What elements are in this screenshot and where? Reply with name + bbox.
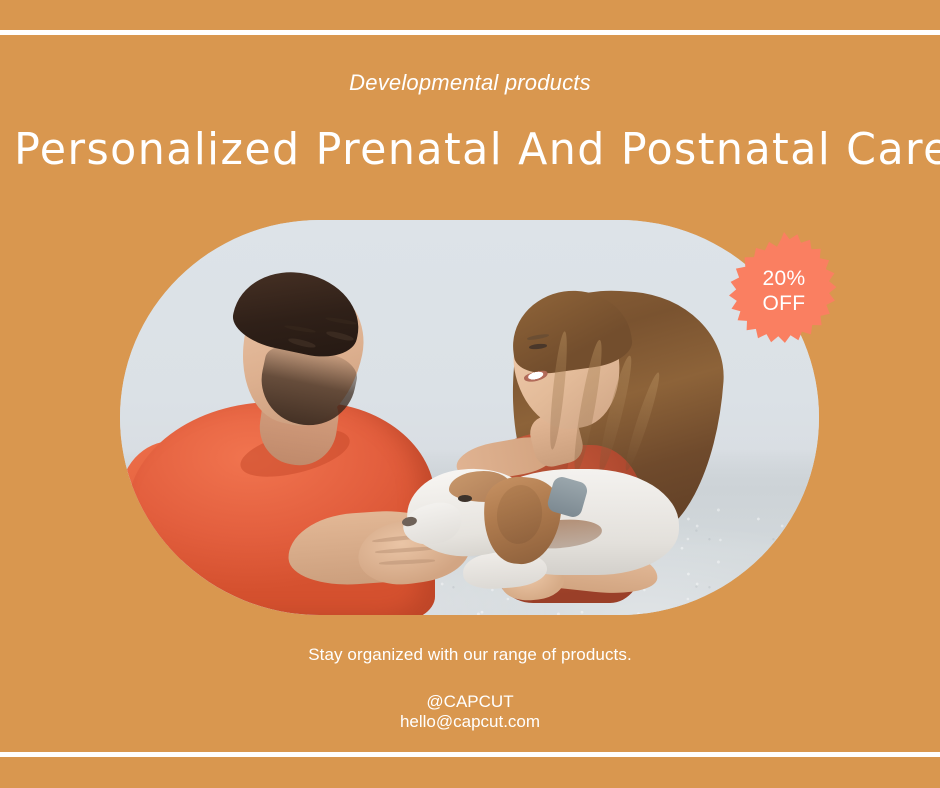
tagline-text: Stay organized with our range of product… — [0, 643, 940, 667]
discount-percent: 20% — [763, 266, 806, 291]
social-handle[interactable]: @CAPCUT — [0, 692, 940, 712]
discount-label: OFF — [763, 291, 806, 316]
eyebrow-text: Developmental products — [0, 68, 940, 98]
contact-email[interactable]: hello@capcut.com — [0, 712, 940, 732]
discount-badge-text: 20% OFF — [723, 230, 845, 352]
hero-photo — [120, 220, 819, 615]
discount-badge[interactable]: 20% OFF — [723, 230, 845, 352]
poster-canvas: Developmental products Personalized Pren… — [0, 0, 940, 788]
divider-bottom — [0, 752, 940, 757]
contact-block: @CAPCUT hello@capcut.com — [0, 692, 940, 732]
page-title: Personalized Prenatal And Postnatal Care — [14, 118, 926, 182]
divider-top — [0, 30, 940, 35]
photo-dog-eye — [458, 495, 472, 502]
